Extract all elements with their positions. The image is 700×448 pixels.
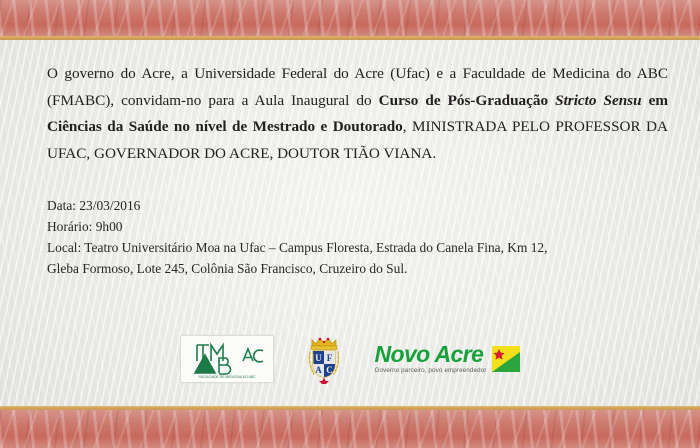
novo-acre-wordmark: Novo Acre	[374, 343, 486, 366]
ufac-crown-icon	[311, 338, 337, 350]
fmabc-logo: FACULDADE DE MEDICINA DO ABC	[180, 335, 274, 383]
body-bold-italic: Stricto Sensu	[555, 92, 641, 109]
bottom-decorative-band	[0, 406, 700, 448]
novo-acre-word-1: Novo	[374, 341, 429, 367]
invitation-body-text: O governo do Acre, a Universidade Federa…	[0, 41, 700, 167]
fmabc-tagline: FACULDADE DE MEDICINA DO ABC	[199, 375, 257, 379]
invitation-content: O governo do Acre, a Universidade Federa…	[0, 41, 700, 279]
acre-flag-icon	[492, 346, 520, 372]
top-gold-rule	[0, 36, 700, 40]
body-bold-1: Curso de Pós-Graduação	[379, 92, 555, 109]
novo-acre-logo: Novo Acre Governo parceiro, povo empreen…	[374, 343, 519, 375]
event-venue-line-1: Local: Teatro Universitário Moa na Ufac …	[47, 237, 668, 258]
fmabc-logo-icon: FACULDADE DE MEDICINA DO ABC	[185, 339, 269, 379]
bottom-band-texture	[0, 410, 700, 448]
logo-row: FACULDADE DE MEDICINA DO ABC U F A C	[0, 330, 700, 388]
invitation-card: O governo do Acre, a Universidade Federa…	[0, 0, 700, 448]
top-band-texture	[0, 0, 700, 36]
event-time: Horário: 9h00	[47, 216, 668, 237]
event-date: Data: 23/03/2016	[47, 195, 668, 216]
novo-acre-word-2: Acre	[435, 341, 484, 367]
svg-text:F: F	[327, 353, 333, 363]
svg-text:U: U	[316, 353, 323, 363]
bottom-gold-rule	[0, 406, 700, 410]
ufac-crest-logo: U F A C	[302, 334, 346, 384]
ufac-shield-icon: U F A C	[313, 351, 335, 377]
novo-acre-tagline: Governo parceiro, povo empreendedor	[374, 367, 486, 375]
svg-text:A: A	[316, 365, 323, 375]
svg-text:C: C	[327, 365, 334, 375]
novo-acre-text-block: Novo Acre Governo parceiro, povo empreen…	[374, 343, 486, 375]
top-decorative-band	[0, 0, 700, 41]
event-details: Data: 23/03/2016 Horário: 9h00 Local: Te…	[0, 167, 700, 279]
event-venue-line-2: Gleba Formoso, Lote 245, Colônia São Fra…	[47, 258, 668, 279]
ufac-star-icon	[319, 378, 329, 385]
